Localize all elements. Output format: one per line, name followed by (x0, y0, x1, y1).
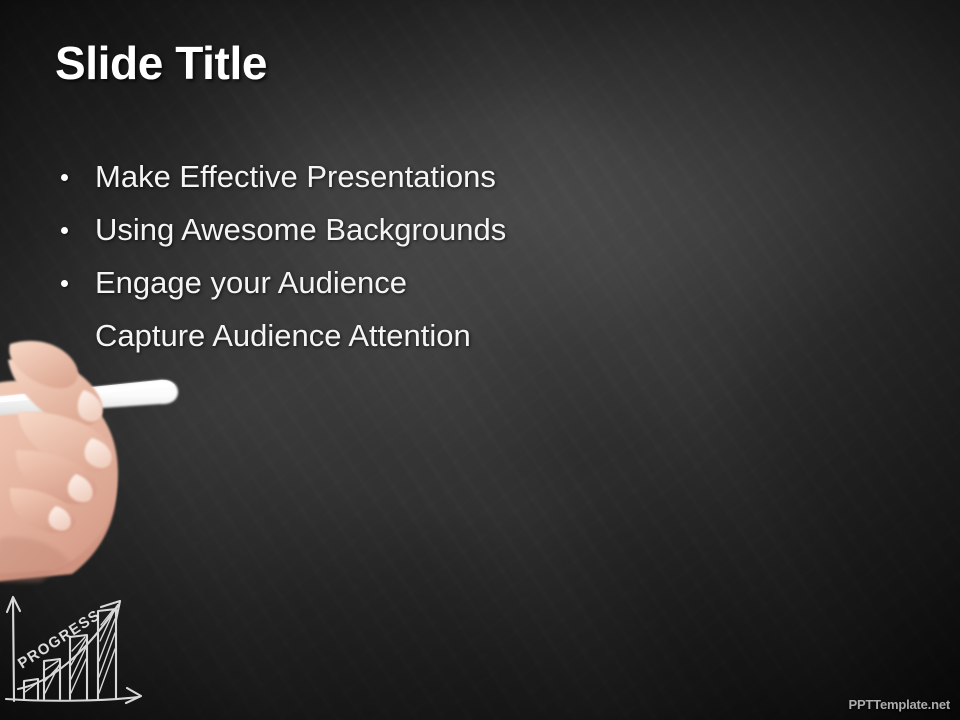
bullet-dot-icon (61, 280, 68, 287)
page-title: Slide Title (55, 36, 267, 90)
slide-canvas: Slide Title Make Effective Presentations… (0, 0, 960, 720)
bullet-list: Make Effective Presentations Using Aweso… (55, 150, 675, 362)
watermark-label: PPTTemplate.net (848, 697, 950, 712)
progress-chart-doodle: PROGRESS (0, 575, 170, 715)
list-item: Engage your Audience (55, 256, 675, 309)
bullet-dot-icon (61, 227, 68, 234)
doodle-bar-1 (24, 679, 38, 699)
doodle-y-axis (13, 599, 14, 701)
list-item-label: Capture Audience Attention (95, 318, 471, 353)
list-item: Using Awesome Backgrounds (55, 203, 675, 256)
list-item: Capture Audience Attention (55, 309, 675, 362)
bullet-dot-icon (61, 174, 68, 181)
list-item-label: Make Effective Presentations (95, 159, 496, 194)
list-item-label: Using Awesome Backgrounds (95, 212, 506, 247)
doodle-x-arrowhead (126, 688, 141, 703)
list-item: Make Effective Presentations (55, 150, 675, 203)
doodle-baseline (6, 697, 138, 701)
list-item-label: Engage your Audience (95, 265, 407, 300)
